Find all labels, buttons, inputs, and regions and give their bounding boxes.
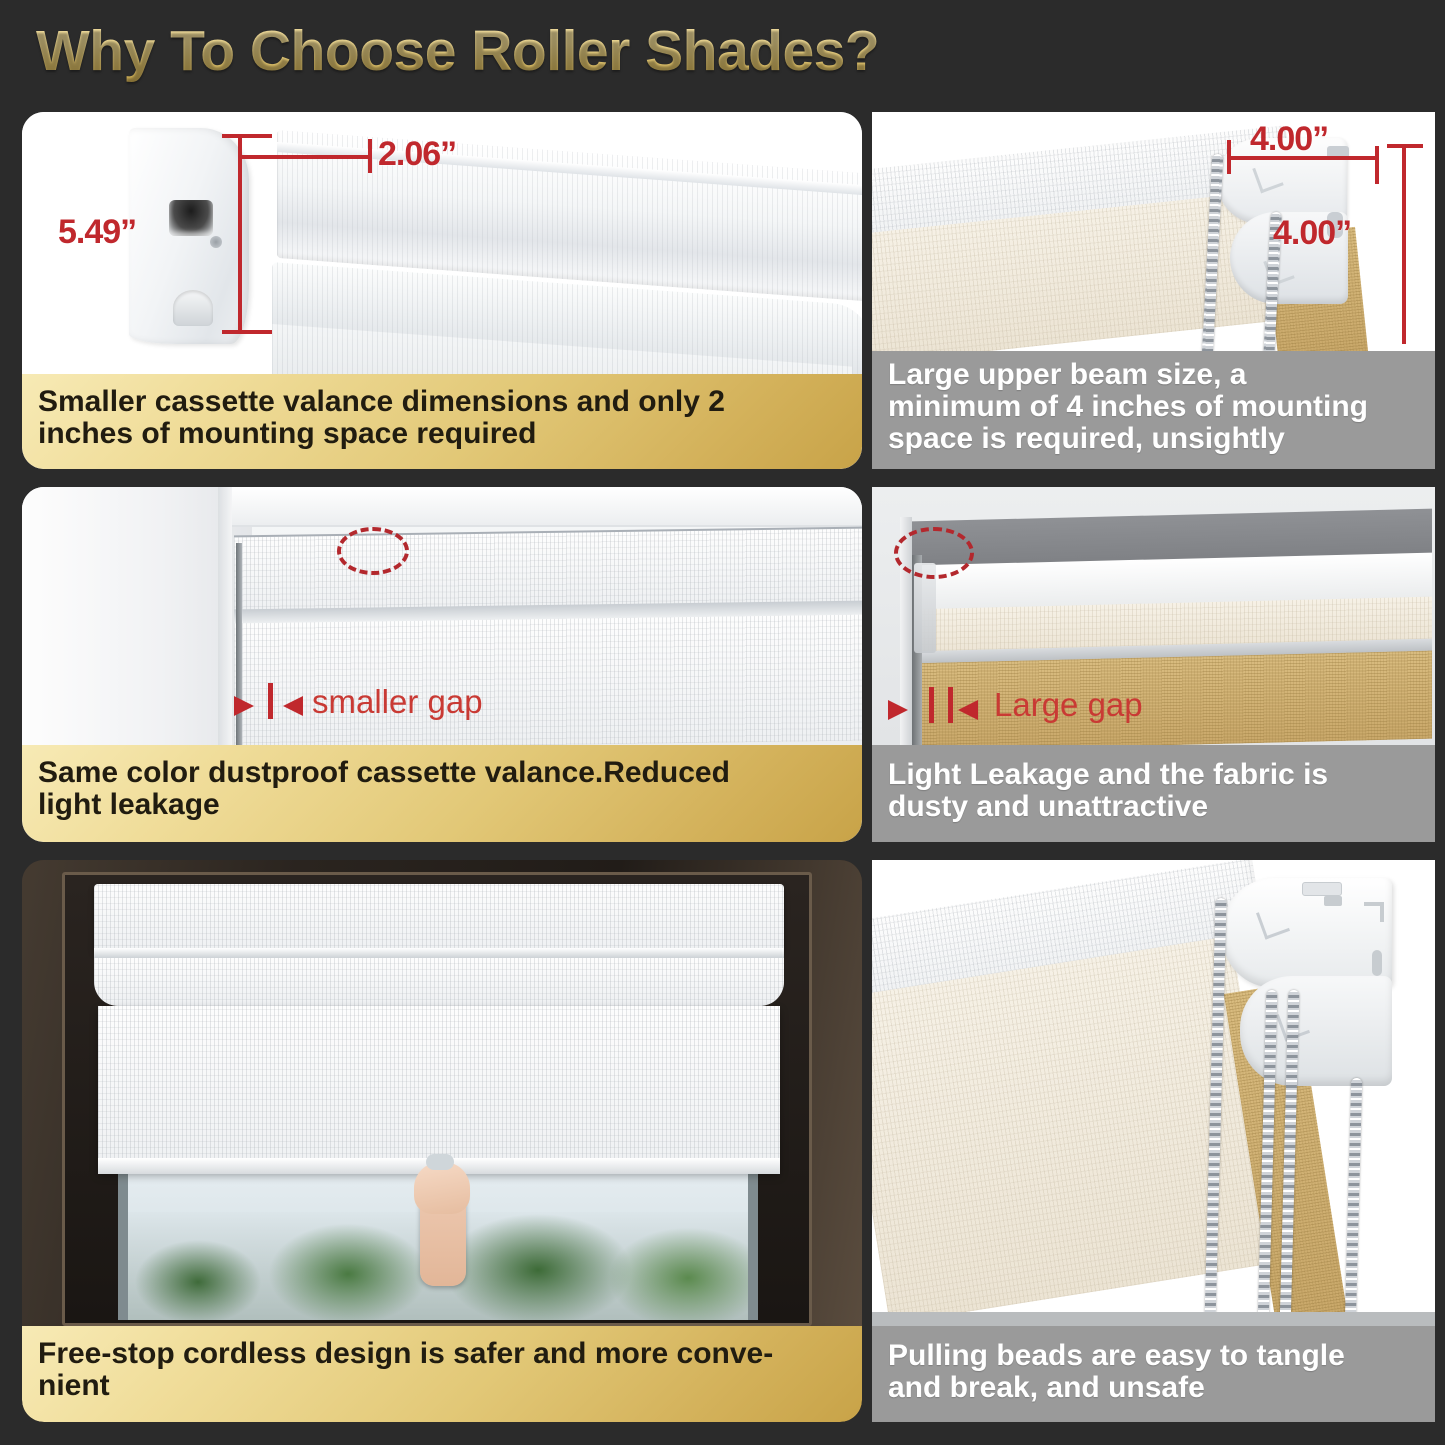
panel-4-photo: Large gap	[872, 487, 1435, 745]
gap-arrow-right	[283, 696, 303, 716]
width-dimension-line	[240, 155, 372, 159]
panel-5-caption-line2: nient	[38, 1370, 110, 1402]
surface-shadow	[872, 1312, 1435, 1326]
end-cap-screw	[210, 236, 222, 248]
height-dimension-line	[238, 134, 242, 334]
beam-width-tick-right	[1375, 146, 1379, 184]
width-dimension-tick-right	[368, 139, 372, 173]
glass-mullion-left	[118, 1160, 128, 1320]
panel-2-caption-line3: space is required, unsightly	[888, 423, 1285, 455]
bracket-lower	[1240, 976, 1392, 1086]
panel-6-photo	[872, 860, 1435, 1326]
bottom-bar-grip	[426, 1154, 454, 1170]
shade-roll	[94, 958, 784, 1006]
panel-6-caption: Pulling beads are easy to tangle and bre…	[872, 1326, 1435, 1422]
bracket-slot-a	[1324, 896, 1342, 906]
panel-pulling-beads: Pulling beads are easy to tangle and bre…	[872, 860, 1435, 1422]
page-title: Why To Choose Roller Shades?	[36, 18, 879, 84]
gap-marker-line	[268, 683, 273, 719]
beam-width-label: 4.00”	[1250, 120, 1328, 159]
end-cap-pin	[173, 290, 213, 326]
gap-arrow-left	[234, 696, 254, 716]
panel-4-caption-line2: dusty and unattractive	[888, 791, 1208, 823]
glass-mullion-right	[748, 1160, 758, 1320]
height-dimension-label: 5.49”	[58, 213, 136, 252]
bracket-slot-top	[1302, 882, 1342, 896]
panel-1-caption-line2: inches of mounting space required	[38, 418, 536, 450]
seam-highlight-ellipse	[337, 527, 409, 575]
gap-highlight-ellipse	[894, 527, 974, 579]
panel-5-caption-line1: Free-stop cordless design is safer and m…	[38, 1338, 773, 1370]
panel-3-photo: smaller gap	[22, 487, 862, 745]
panel-3-caption: Same color dustproof cassette valance.Re…	[22, 745, 862, 842]
panel-1-caption: Smaller cassette valance dimensions and …	[22, 374, 862, 469]
beam-height-tick-top	[1387, 144, 1423, 148]
lower-fabric	[234, 615, 862, 745]
gap-marker-line-a	[929, 687, 934, 723]
gap-marker-line-b	[948, 687, 953, 723]
panel-2-caption: Large upper beam size, a minimum of 4 in…	[872, 351, 1435, 469]
panel-5-photo	[22, 860, 862, 1326]
height-dimension-tick-top	[222, 134, 272, 138]
fabric-band-tan	[912, 651, 1432, 745]
valance-band	[234, 527, 862, 614]
panel-cordless-design: Free-stop cordless design is safer and m…	[22, 860, 862, 1422]
panel-smaller-cassette: 5.49” 2.06” Smaller cassette valance dim…	[22, 112, 862, 469]
panel-2-photo: 4.00” 4.00”	[872, 112, 1435, 357]
large-gap-label: Large gap	[994, 686, 1143, 724]
bead-chain-4	[1345, 1078, 1362, 1326]
width-dimension-label: 2.06”	[378, 135, 456, 174]
gap-arrow-left	[888, 700, 908, 720]
panel-6-caption-line1: Pulling beads are easy to tangle	[888, 1340, 1345, 1372]
panel-3-caption-line2: light leakage	[38, 789, 220, 821]
panel-2-caption-line2: minimum of 4 inches of mounting	[888, 391, 1368, 423]
shade-fabric	[98, 1006, 780, 1172]
window-frame-edge	[218, 487, 232, 745]
bracket-slot-b	[1372, 950, 1382, 976]
beam-height-line	[1402, 144, 1406, 344]
smaller-gap-label: smaller gap	[312, 683, 483, 721]
panel-6-caption-line2: and break, and unsafe	[888, 1372, 1205, 1404]
bracket-notch	[1364, 902, 1384, 922]
window-frame-top	[222, 487, 862, 527]
panel-large-upper-beam: 4.00” 4.00” Large upper beam size, a min…	[872, 112, 1435, 469]
panel-3-caption-line1: Same color dustproof cassette valance.Re…	[38, 757, 730, 789]
panel-dustproof-valance: smaller gap Same color dustproof cassett…	[22, 487, 862, 842]
panel-2-caption-line1: Large upper beam size, a	[888, 359, 1246, 391]
panel-5-caption: Free-stop cordless design is safer and m…	[22, 1326, 862, 1422]
gap-arrow-right	[958, 700, 978, 720]
infographic-root: Why To Choose Roller Shades? 5.49” 2.06”	[0, 0, 1445, 1445]
panel-4-caption: Light Leakage and the fabric is dusty an…	[872, 745, 1435, 842]
end-cap-slot	[169, 200, 213, 236]
panel-1-photo: 5.49” 2.06”	[22, 112, 862, 374]
beam-width-tick-left	[1227, 140, 1231, 174]
panel-light-leakage: Large gap Light Leakage and the fabric i…	[872, 487, 1435, 842]
shade-cassette	[94, 884, 784, 952]
height-dimension-tick-bottom	[222, 330, 272, 334]
cassette-lip	[94, 948, 784, 958]
panel-4-caption-line1: Light Leakage and the fabric is	[888, 759, 1328, 791]
panel-1-caption-line1: Smaller cassette valance dimensions and …	[38, 386, 725, 418]
beam-height-label: 4.00”	[1273, 214, 1351, 253]
